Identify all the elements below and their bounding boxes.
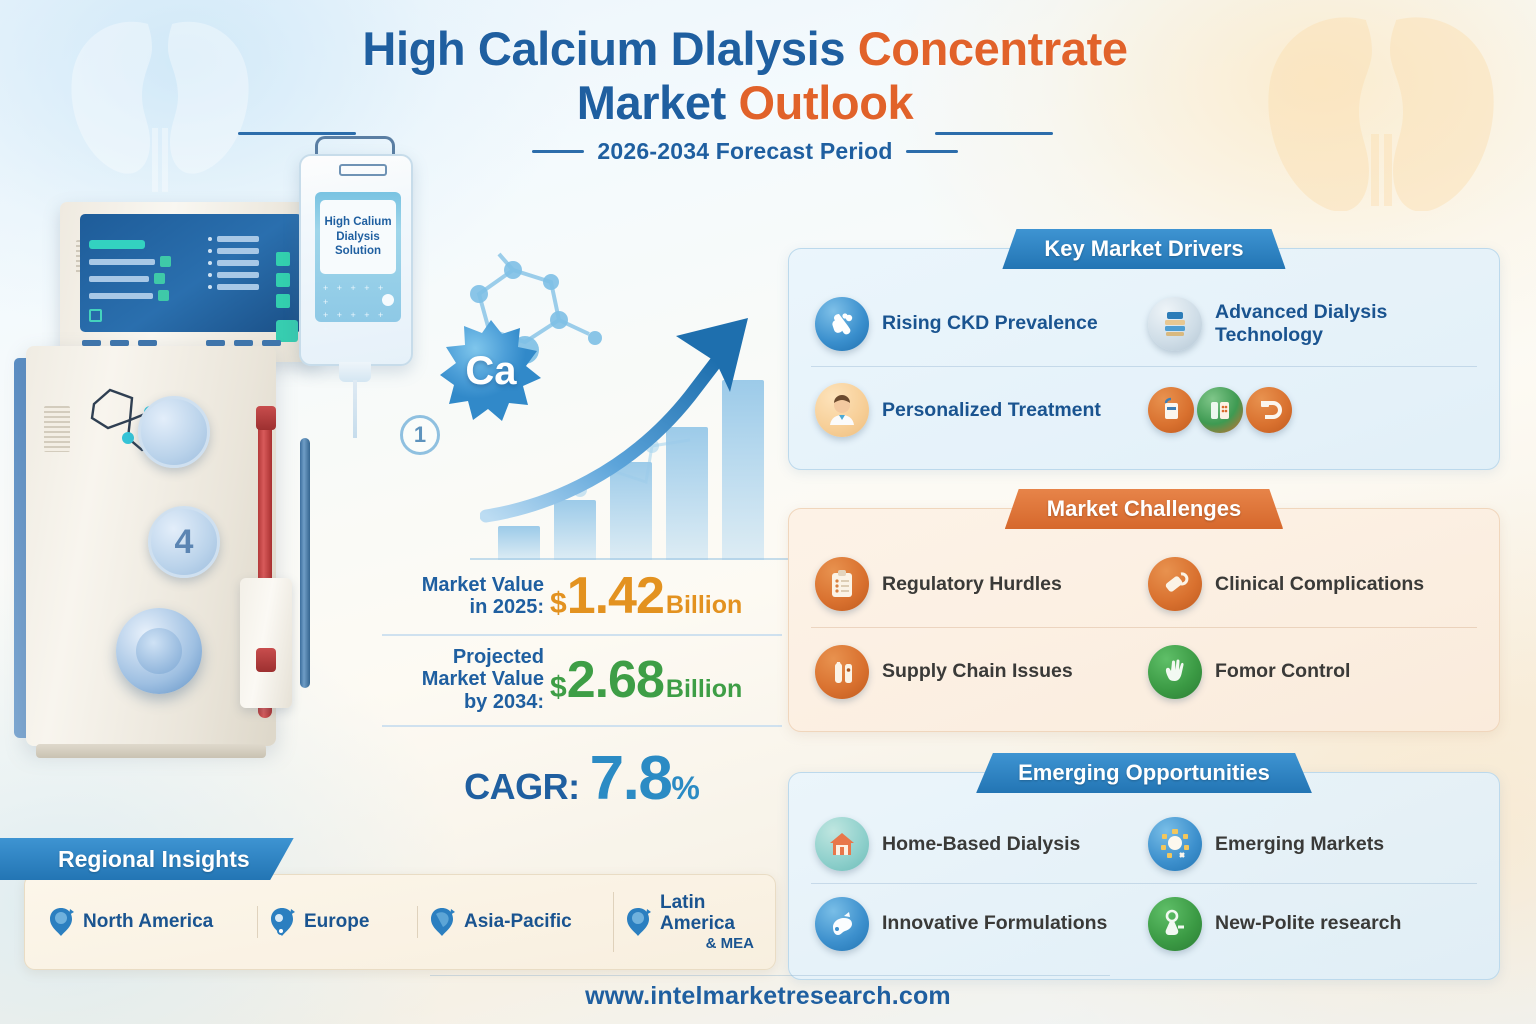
opportunity-item-new-polite-research[interactable]: New-Polite research xyxy=(1144,884,1477,963)
opportunities-banner: Emerging Opportunities xyxy=(976,753,1312,793)
region-item-latin-america-mea[interactable]: Latin America & MEA xyxy=(613,892,763,952)
map-pin-icon xyxy=(267,906,297,938)
machine-screen xyxy=(80,214,302,332)
screen-label xyxy=(217,260,259,266)
machine-dial-number[interactable]: 4 xyxy=(148,506,220,578)
challenge-label: Clinical Complications xyxy=(1215,573,1424,596)
metric-unit: Billion xyxy=(666,675,742,703)
research-icon xyxy=(1148,897,1202,951)
machine-base xyxy=(36,744,266,758)
metric-label: Projected Market Value by 2034: xyxy=(382,646,544,713)
kidney-watermark-right xyxy=(1228,6,1528,211)
driver-label: Rising CKD Prevalence xyxy=(882,312,1098,335)
driver-label: Advanced Dialysis Technology xyxy=(1215,301,1473,346)
globe-network-icon xyxy=(1148,817,1202,871)
screen-square xyxy=(276,294,290,308)
iv-bag-illustration: High Calium Dialysis Solution + + + + + … xyxy=(293,136,419,406)
driver-item-advanced-dialysis-technology[interactable]: Advanced Dialysis Technology xyxy=(1144,281,1477,367)
metric-label-line: by 2034: xyxy=(382,691,544,713)
metric-number: 1.42 xyxy=(567,567,664,625)
screen-dot xyxy=(208,261,212,265)
driver-item-personalized-treatment[interactable]: Personalized Treatment xyxy=(811,367,1144,453)
flask-icon xyxy=(815,897,869,951)
growth-chart xyxy=(470,300,790,560)
subtitle-rule-left xyxy=(532,150,584,153)
challenges-grid: Regulatory Hurdles Clinical Complication… xyxy=(811,541,1477,715)
opportunity-label: New-Polite research xyxy=(1215,912,1401,935)
metric-label-line: in 2025: xyxy=(382,596,544,618)
footer-divider xyxy=(430,975,1110,976)
regional-items: North America Europe Asia-Pacific xyxy=(37,885,763,959)
blood-tube-blue xyxy=(300,438,310,688)
screen-badge-icon xyxy=(89,309,102,322)
opportunity-label: Home-Based Dialysis xyxy=(882,833,1080,856)
challenge-item-supply-chain-issues[interactable]: Supply Chain Issues xyxy=(811,628,1144,715)
machine-dial-upper[interactable] xyxy=(138,396,210,468)
cagr-label: CAGR: xyxy=(464,766,579,808)
bone-joint-icon xyxy=(815,297,869,351)
opportunity-label: Innovative Formulations xyxy=(882,912,1107,935)
iv-label-line3: Solution xyxy=(324,244,391,259)
iv-label-line1: High Calium xyxy=(324,215,391,230)
opportunity-item-innovative-formulations[interactable]: Innovative Formulations xyxy=(811,884,1144,963)
iv-bag-tabs xyxy=(339,164,387,176)
clipboard-icon xyxy=(815,557,869,611)
iv-drip-line xyxy=(353,380,357,438)
tube-clamp xyxy=(256,648,276,672)
machine-head xyxy=(60,202,320,362)
opportunity-label: Emerging Markets xyxy=(1215,833,1384,856)
metric-currency: $ xyxy=(550,587,567,620)
region-label: Asia-Pacific xyxy=(464,911,572,933)
iv-label-dot xyxy=(382,294,394,306)
metric-number: 2.68 xyxy=(567,651,664,709)
map-pin-icon xyxy=(623,906,653,938)
iv-marking-row: + + + + + + xyxy=(323,309,393,336)
step-number-badge: 1 xyxy=(400,415,440,455)
iv-bag-label-panel: High Calium Dialysis Solution + + + + + … xyxy=(315,192,401,322)
supply-tube-icon xyxy=(1246,387,1292,433)
growth-arrow-icon xyxy=(480,300,790,540)
metric-label: Market Value in 2025: xyxy=(382,574,544,619)
region-item-asia-pacific[interactable]: Asia-Pacific xyxy=(417,906,613,938)
screen-title-bar xyxy=(89,240,145,249)
metric-currency: $ xyxy=(550,671,567,704)
iv-bag-neck xyxy=(339,362,371,382)
screen-label xyxy=(89,259,155,265)
screen-label xyxy=(217,284,259,290)
challenge-item-clinical-complications[interactable]: Clinical Complications xyxy=(1144,541,1477,628)
challenge-label: Fomor Control xyxy=(1215,660,1350,683)
screen-label xyxy=(217,236,259,242)
key-metrics: Market Value in 2025: $1.42Billion Proje… xyxy=(382,560,782,814)
screen-chip xyxy=(160,256,171,267)
panel-key-market-drivers: Key Market Drivers Rising CKD Prevalence… xyxy=(788,248,1500,470)
supply-pills-icon xyxy=(1197,387,1243,433)
machine-main-knob[interactable] xyxy=(116,608,202,694)
kidney-watermark-left xyxy=(40,8,280,198)
tube-clamp xyxy=(256,406,276,430)
metric-value: $2.68Billion xyxy=(550,654,742,706)
drivers-grid: Rising CKD Prevalence Advanced Dialysis … xyxy=(811,281,1477,453)
panel-regional-insights: North America Europe Asia-Pacific xyxy=(24,874,776,970)
metric-projected-value: Projected Market Value by 2034: $2.68Bil… xyxy=(382,634,782,725)
page-subtitle: 2026-2034 Forecast Period xyxy=(597,138,892,165)
cagr-suffix: % xyxy=(671,770,699,807)
title-line1-primary: High Calcium Dlalysis xyxy=(362,22,857,75)
region-item-europe[interactable]: Europe xyxy=(257,906,417,938)
iv-bag-body: High Calium Dialysis Solution + + + + + … xyxy=(299,154,413,366)
dialyzer-cartridge xyxy=(240,578,292,708)
region-label-sub: & MEA xyxy=(660,935,754,952)
iv-label-line2: Dialysis xyxy=(324,230,391,245)
supply-bag-icon xyxy=(1148,387,1194,433)
title-line2-primary: Market xyxy=(577,76,739,129)
screen-square xyxy=(276,252,290,266)
metric-cagr: CAGR: 7.8 % xyxy=(382,725,782,814)
region-item-north-america[interactable]: North America xyxy=(37,906,257,938)
machine-body-vent xyxy=(44,406,70,452)
screen-square xyxy=(276,273,290,287)
driver-label: Personalized Treatment xyxy=(882,399,1101,422)
driver-item-supplies[interactable] xyxy=(1144,367,1477,453)
screen-chip xyxy=(158,290,169,301)
map-pin-icon xyxy=(427,906,457,938)
region-label: North America xyxy=(83,911,213,933)
house-icon xyxy=(815,817,869,871)
opportunity-item-emerging-markets[interactable]: Emerging Markets xyxy=(1144,805,1477,884)
challenge-label: Regulatory Hurdles xyxy=(882,573,1062,596)
panel-market-challenges: Market Challenges Regulatory Hurdles C xyxy=(788,508,1500,732)
iv-bag-label-text: High Calium Dialysis Solution xyxy=(324,215,391,259)
metric-label-line: Market Value xyxy=(382,668,544,690)
challenge-item-fomor-control[interactable]: Fomor Control xyxy=(1144,628,1477,715)
dialysis-filter-icon xyxy=(1148,297,1202,351)
screen-label xyxy=(217,248,259,254)
challenge-item-regulatory-hurdles[interactable]: Regulatory Hurdles xyxy=(811,541,1144,628)
drivers-banner: Key Market Drivers xyxy=(1002,229,1285,269)
hand-glove-icon xyxy=(1148,645,1202,699)
footer-url[interactable]: www.intelmarketresearch.com xyxy=(0,982,1536,1011)
screen-label xyxy=(89,293,153,299)
iv-label-markings: + + + + + + + + + + + + xyxy=(323,282,393,336)
region-label: Latin America & MEA xyxy=(660,892,754,952)
title-line2-accent: Outlook xyxy=(739,76,914,129)
challenges-banner: Market Challenges xyxy=(1005,489,1283,529)
metric-value: $1.42Billion xyxy=(550,570,742,622)
region-label-main: Latin America xyxy=(660,892,735,935)
regional-insights-banner: Regional Insights xyxy=(0,838,294,880)
screen-label xyxy=(217,272,259,278)
screen-dot xyxy=(208,249,212,253)
screen-dot xyxy=(208,237,212,241)
opportunity-item-home-based-dialysis[interactable]: Home-Based Dialysis xyxy=(811,805,1144,884)
metric-unit: Billion xyxy=(666,591,742,619)
panel-emerging-opportunities: Emerging Opportunities Home-Based Dialys… xyxy=(788,772,1500,980)
region-label: Europe xyxy=(304,911,369,933)
syringe-icon xyxy=(1148,557,1202,611)
screen-left-column xyxy=(89,240,193,322)
screen-mid-column xyxy=(208,236,270,296)
challenge-label: Supply Chain Issues xyxy=(882,660,1073,683)
screen-dot xyxy=(208,285,212,289)
bottles-icon xyxy=(815,645,869,699)
opportunities-grid: Home-Based Dialysis Emerging xyxy=(811,805,1477,963)
metric-label-line: Market Value xyxy=(382,574,544,596)
screen-label xyxy=(89,276,149,282)
driver-item-rising-ckd-prevalence[interactable]: Rising CKD Prevalence xyxy=(811,281,1144,367)
doctor-avatar-icon xyxy=(815,383,869,437)
map-pin-icon xyxy=(46,906,76,938)
metric-current-value: Market Value in 2025: $1.42Billion xyxy=(382,560,782,634)
screen-dot xyxy=(208,273,212,277)
subtitle-rule-right xyxy=(906,150,958,153)
title-line1-accent: Concentrate xyxy=(858,22,1128,75)
screen-chip xyxy=(154,273,165,284)
metric-label-line: Projected xyxy=(382,646,544,668)
iv-bag-label-card: High Calium Dialysis Solution xyxy=(320,200,396,274)
cagr-value: 7.8 xyxy=(590,743,672,814)
